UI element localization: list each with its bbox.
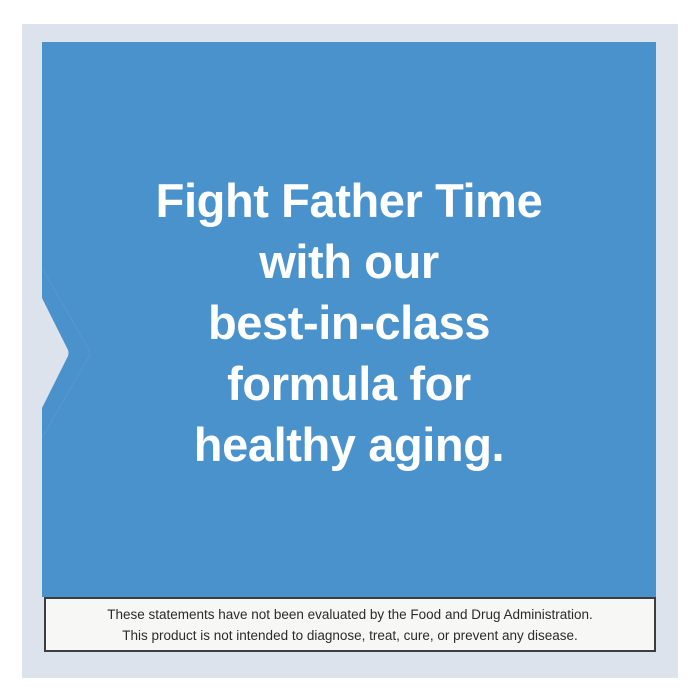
disclaimer-line-2: This product is not intended to diagnose… — [122, 625, 578, 646]
page-root: Fight Father Time with our best-in-class… — [0, 0, 700, 700]
headline-line-3: best-in-class — [208, 292, 490, 353]
hero-headline: Fight Father Time with our best-in-class… — [42, 42, 656, 597]
headline-line-4: formula for — [227, 353, 471, 414]
headline-line-5: healthy aging. — [194, 414, 504, 475]
headline-line-2: with our — [259, 231, 439, 292]
headline-line-1: Fight Father Time — [156, 170, 543, 231]
disclaimer-line-1: These statements have not been evaluated… — [107, 604, 593, 625]
fda-disclaimer-box: These statements have not been evaluated… — [44, 597, 656, 652]
